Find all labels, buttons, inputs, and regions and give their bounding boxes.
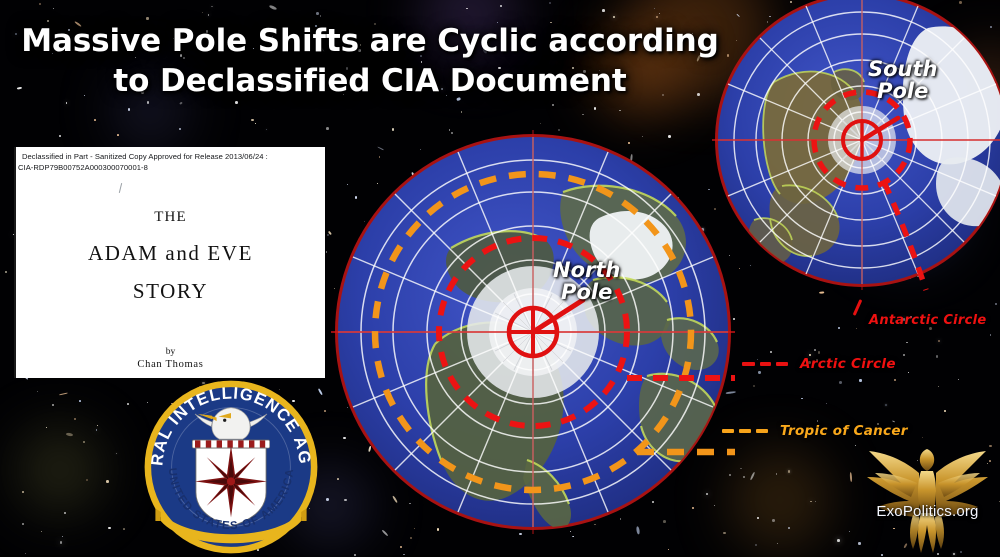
arctic-dash-swatch bbox=[742, 362, 793, 366]
star bbox=[818, 351, 820, 353]
star bbox=[838, 327, 840, 329]
star bbox=[908, 372, 909, 373]
star bbox=[938, 340, 940, 342]
star bbox=[64, 512, 66, 514]
star bbox=[86, 479, 88, 481]
star bbox=[41, 531, 42, 532]
star bbox=[613, 16, 616, 19]
star bbox=[83, 441, 85, 443]
star bbox=[324, 410, 326, 412]
star bbox=[53, 8, 54, 9]
nebula-glow bbox=[16, 426, 104, 514]
star bbox=[826, 403, 827, 404]
document-title-the: THE bbox=[16, 209, 325, 226]
star bbox=[466, 8, 468, 10]
star bbox=[814, 349, 816, 351]
annotation-arctic-circle: Arctic Circle bbox=[742, 356, 896, 372]
galaxy-streak bbox=[269, 4, 277, 10]
arctic-circle-label: Arctic Circle bbox=[800, 356, 896, 372]
star bbox=[202, 12, 203, 13]
star bbox=[320, 15, 321, 16]
star bbox=[772, 519, 775, 522]
star bbox=[39, 3, 41, 5]
star bbox=[776, 473, 777, 474]
star bbox=[552, 104, 553, 105]
galaxy-streak bbox=[750, 472, 756, 481]
star bbox=[903, 354, 905, 356]
star bbox=[656, 16, 658, 18]
star bbox=[94, 119, 96, 121]
star bbox=[74, 418, 76, 420]
south-pole-globe-graphic bbox=[712, 0, 1000, 290]
star bbox=[837, 539, 840, 542]
nebula-glow bbox=[728, 448, 832, 552]
declass-line-1: Declassified in Part - Sanitized Copy Ap… bbox=[22, 152, 322, 163]
document-byline: by Chan Thomas bbox=[16, 347, 325, 370]
document-title-main: ADAM and EVE bbox=[16, 241, 325, 266]
author-name: Chan Thomas bbox=[16, 359, 325, 370]
star bbox=[211, 6, 212, 7]
exopolitics-label: ExoPolitics.org bbox=[855, 503, 1000, 520]
star bbox=[179, 128, 181, 130]
star bbox=[22, 491, 24, 493]
page-title: Massive Pole Shifts are Cyclic according… bbox=[0, 22, 740, 101]
star bbox=[461, 111, 462, 112]
star bbox=[582, 114, 583, 115]
star bbox=[255, 123, 256, 124]
byline-label: by bbox=[16, 347, 325, 357]
star bbox=[46, 427, 47, 428]
star bbox=[788, 527, 790, 529]
star bbox=[849, 531, 851, 533]
star bbox=[326, 498, 329, 501]
star bbox=[52, 404, 54, 406]
star bbox=[208, 14, 210, 16]
south-pole-globe bbox=[712, 0, 1000, 290]
star bbox=[659, 13, 660, 14]
north-pole-globe-graphic bbox=[331, 130, 735, 534]
star bbox=[400, 546, 402, 548]
star bbox=[995, 303, 997, 305]
star bbox=[500, 5, 503, 8]
star bbox=[839, 381, 842, 384]
star bbox=[410, 537, 412, 539]
star bbox=[326, 127, 329, 130]
star bbox=[59, 135, 61, 137]
star bbox=[810, 501, 812, 503]
star bbox=[936, 355, 939, 358]
annotation-tropic-of-cancer: Tropic of Cancer bbox=[722, 423, 908, 439]
star bbox=[316, 12, 319, 15]
star bbox=[757, 517, 759, 519]
star bbox=[128, 108, 130, 110]
star bbox=[66, 102, 67, 103]
star bbox=[594, 107, 597, 110]
star bbox=[97, 425, 98, 426]
star bbox=[266, 129, 267, 130]
star bbox=[62, 536, 63, 537]
star bbox=[235, 101, 238, 104]
star bbox=[906, 342, 908, 344]
tropic-dash-swatch bbox=[722, 429, 773, 433]
document-title-story: STORY bbox=[16, 279, 325, 304]
galaxy-streak bbox=[850, 472, 853, 482]
star bbox=[5, 271, 7, 273]
star bbox=[573, 536, 574, 537]
star bbox=[885, 404, 887, 406]
star bbox=[116, 453, 117, 454]
star bbox=[856, 328, 857, 329]
star bbox=[938, 386, 939, 387]
star bbox=[251, 119, 254, 122]
antarctic-circle-label: Antarctic Circle bbox=[869, 313, 987, 328]
annotation-antarctic-circle: Antarctic Circle bbox=[869, 313, 987, 328]
star bbox=[770, 351, 772, 353]
star bbox=[127, 403, 129, 405]
star bbox=[327, 234, 329, 236]
star bbox=[108, 527, 110, 529]
phoenix-wings bbox=[867, 449, 988, 553]
galaxy-streak bbox=[66, 432, 74, 436]
star bbox=[25, 553, 26, 554]
star bbox=[990, 334, 992, 336]
cia-seal: CENTRAL INTELLIGENCE AGENCY bbox=[141, 377, 321, 557]
star bbox=[540, 123, 541, 124]
document-declassification-stamp: Declassified in Part - Sanitized Copy Ap… bbox=[22, 152, 322, 174]
star bbox=[801, 398, 802, 399]
star bbox=[146, 17, 148, 19]
star bbox=[944, 410, 946, 412]
title-line-1: Massive Pole Shifts are Cyclic according bbox=[0, 22, 740, 62]
star bbox=[668, 549, 669, 550]
north-pole-globe bbox=[331, 130, 735, 534]
star bbox=[743, 476, 745, 478]
star bbox=[106, 480, 109, 483]
star bbox=[147, 101, 149, 103]
star bbox=[654, 8, 655, 9]
cia-seal-graphic: CENTRAL INTELLIGENCE AGENCY bbox=[141, 377, 321, 557]
star bbox=[815, 501, 816, 502]
star bbox=[922, 437, 923, 438]
star bbox=[788, 470, 790, 472]
phoenix-logo-icon bbox=[855, 443, 1000, 555]
star bbox=[755, 544, 757, 546]
star bbox=[894, 379, 896, 381]
document-pen-mark bbox=[119, 183, 122, 193]
star bbox=[859, 379, 861, 381]
galaxy-streak bbox=[819, 292, 824, 294]
star bbox=[549, 2, 551, 4]
declass-line-2: CIA-RDP79B00752A000300070001-8 bbox=[18, 163, 322, 174]
exopolitics-watermark[interactable]: ExoPolitics.org bbox=[855, 443, 1000, 555]
star bbox=[777, 543, 778, 544]
document-title-block: THE ADAM and EVE STORY bbox=[16, 209, 325, 304]
title-line-2: to Declassified CIA Document bbox=[0, 62, 740, 102]
star bbox=[22, 523, 24, 525]
star bbox=[817, 420, 818, 421]
star bbox=[37, 391, 38, 392]
star bbox=[79, 400, 81, 402]
star bbox=[117, 134, 119, 136]
star bbox=[753, 385, 755, 387]
star bbox=[619, 110, 621, 112]
galaxy-streak bbox=[178, 101, 182, 105]
star bbox=[123, 528, 125, 530]
star bbox=[60, 541, 62, 543]
star bbox=[326, 251, 328, 253]
star bbox=[602, 9, 605, 12]
tropic-of-cancer-label: Tropic of Cancer bbox=[780, 423, 908, 439]
star bbox=[96, 429, 97, 430]
star bbox=[740, 468, 742, 470]
star bbox=[354, 554, 356, 556]
star bbox=[958, 379, 959, 380]
galaxy-streak bbox=[59, 392, 68, 395]
declassified-document-thumbnail[interactable]: Declassified in Part - Sanitized Copy Ap… bbox=[14, 147, 325, 378]
